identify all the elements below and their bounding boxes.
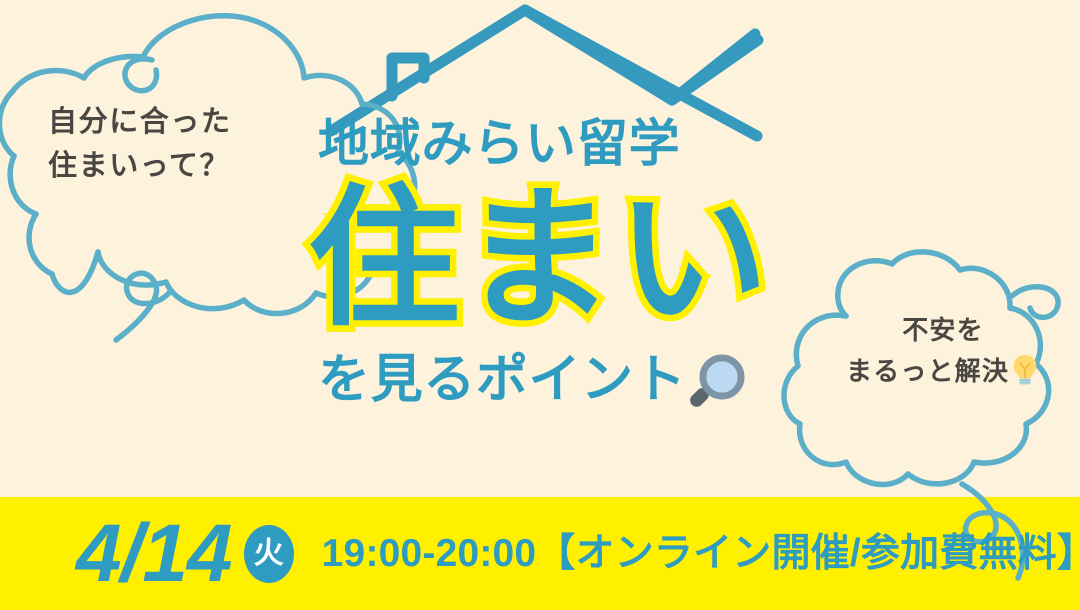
weekday-label: 火 <box>254 539 284 569</box>
headline-subline: を見るポイント <box>318 354 686 406</box>
magnifying-glass-icon <box>684 353 746 415</box>
answer-line-1: 不安を <box>812 310 1074 351</box>
footer-content: 4/14 火 19:00-20:00【オンライン開催/参加費無料】 <box>0 497 1080 610</box>
headline-block: 地域みらい留学 住まい を見るポイント <box>318 118 838 415</box>
event-time-and-info: 19:00-20:00【オンライン開催/参加費無料】 <box>322 534 1080 573</box>
weekday-badge: 火 <box>244 525 294 583</box>
question-line-2: 住まいって？ <box>48 144 288 188</box>
chimney-icon <box>392 58 424 96</box>
headline-keyword: 住まい <box>308 183 838 335</box>
event-banner: 自分に合った 住まいって？ 不安を まるっと解決 地域みらい留学 住まい を見る… <box>0 0 1080 610</box>
question-line-1: 自分に合った <box>48 100 288 144</box>
event-date: 4/14 <box>76 513 232 595</box>
program-name: 地域みらい留学 <box>318 118 838 169</box>
question-bubble-text: 自分に合った 住まいって？ <box>48 100 288 188</box>
answer-line-2: まるっと解決 <box>846 351 1009 392</box>
answer-line-2-row: まるっと解決 <box>812 351 1074 392</box>
answer-bubble-text: 不安を まるっと解決 <box>812 310 1074 391</box>
light-bulb-icon <box>1010 353 1040 387</box>
headline-subline-row: を見るポイント <box>318 345 838 415</box>
